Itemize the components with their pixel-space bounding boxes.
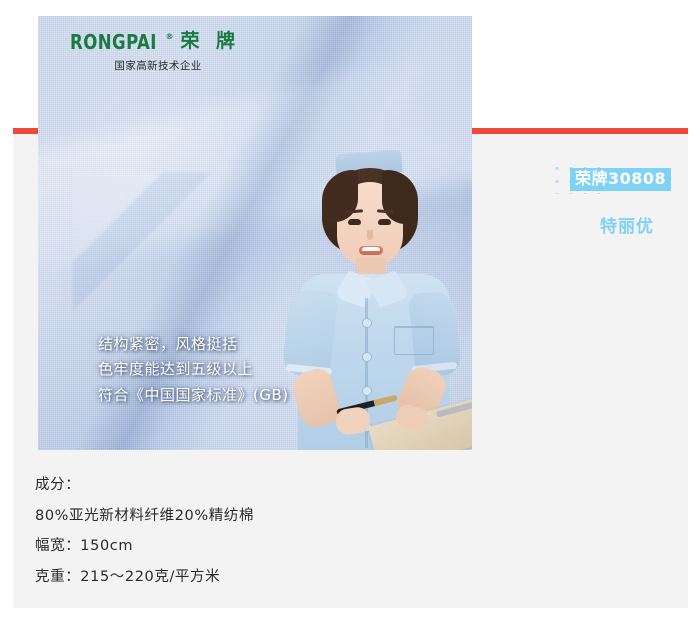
brand-logo: RONGPAI ® 荣 牌 国家高新技术企业 [70,32,240,73]
specification-list: 成分： 80%亚光新材料纤维20%精纺棉 幅宽：150cm 克重：215～220… [35,470,254,593]
nurse-hair-right [382,170,418,224]
spec-composition-label: 成分： [35,470,254,501]
spec-weight: 克重：215～220克/平方米 [35,562,254,593]
overlay-line-1: 结构紧密，风格挺括 [98,332,289,358]
brand-logo-wordmark: RONGPAI ® 荣 牌 [70,32,240,52]
photo-overlay-copy: 结构紧密，风格挺括 色牢度能达到五级以上 符合《中国国家标准》(GB) [98,332,289,409]
registered-trademark-icon: ® [165,33,173,41]
nurse-chest-pocket [394,326,434,355]
product-photo: RONGPAI ® 荣 牌 国家高新技术企业 结构紧密，风格挺括 色牢度能达到五… [38,16,472,450]
brand-tagline: 国家高新技术企业 [70,58,240,73]
series-name-label: 特丽优 [600,212,654,237]
brand-logo-latin: RONGPAI [70,32,157,52]
nurse-uniform-button [362,318,372,328]
nurse-eye-right [378,219,391,225]
brand-logo-chinese: 荣 牌 [180,32,240,51]
overlay-line-2: 色牢度能达到五级以上 [98,357,289,383]
nurse-eye-left [348,219,361,225]
spec-width: 幅宽：150cm [35,531,254,562]
nurse-nose [367,230,373,240]
nurse-uniform-button [362,386,372,396]
nurse-uniform-button [362,352,372,362]
nurse-teeth [362,247,380,251]
model-number-badge: 荣牌30808 [570,168,671,191]
overlay-line-3: 符合《中国国家标准》(GB) [98,383,289,409]
spec-composition-value: 80%亚光新材料纤维20%精纺棉 [35,501,254,532]
